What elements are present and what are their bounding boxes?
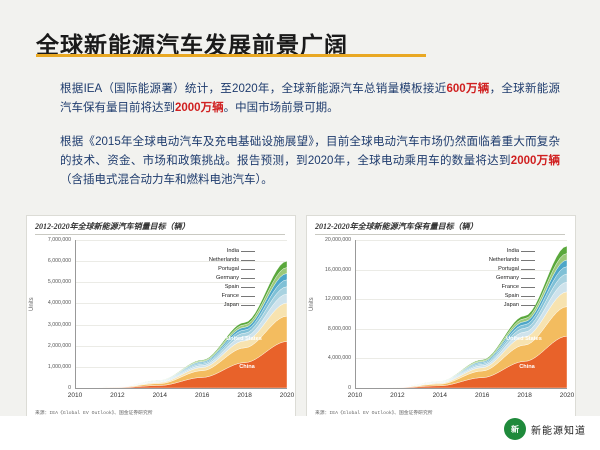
p1-text-c: 。中国市场前景可期。: [224, 102, 339, 114]
series-label: Japan: [167, 302, 239, 308]
y-tick-label: 4,000,000: [309, 355, 351, 361]
chart-title-rule-right: [315, 234, 565, 235]
x-tick-label: 2018: [231, 392, 259, 399]
chart-source-right: 来源：IEA《Global EV Outlook》、国金证券研究所: [315, 409, 433, 416]
y-tick-label: 0: [29, 385, 71, 391]
y-tick-label: 16,000,000: [309, 267, 351, 273]
p2-text-b: （含插电式混合动力车和燃料电池汽车）。: [60, 174, 273, 186]
series-label: Portugal: [167, 266, 239, 272]
p2-highlight-1: 2000万辆: [511, 155, 560, 167]
x-tick-label: 2020: [273, 392, 301, 399]
label-leader-line: [521, 260, 535, 261]
y-tick-label: 4,000,000: [29, 300, 71, 306]
chart-card-stock: 2012-2020年全球新能源汽车保有量目标（辆） Units 04,000,0…: [306, 215, 576, 422]
x-tick-label: 2014: [146, 392, 174, 399]
y-tick-label: 20,000,000: [309, 237, 351, 243]
series-label: Germany: [447, 275, 519, 281]
title-bar: 全球新能源汽车发展前景广阔: [0, 14, 600, 56]
series-label: India: [167, 248, 239, 254]
label-leader-line: [521, 251, 535, 252]
y-tick-label: 6,000,000: [29, 258, 71, 264]
p1-highlight-1: 600万辆: [447, 83, 490, 95]
chart-yaxis-left: [75, 240, 76, 388]
x-tick-label: 2012: [103, 392, 131, 399]
footer-logo: 新 新能源知道: [504, 418, 586, 440]
series-label: Germany: [167, 275, 239, 281]
label-leader-line: [521, 269, 535, 270]
x-tick-label: 2016: [188, 392, 216, 399]
chart-title-stock: 2012-2020年全球新能源汽车保有量目标（辆）: [315, 221, 478, 232]
title-underline: [36, 54, 426, 57]
series-label: United States: [219, 336, 269, 342]
label-leader-line: [521, 287, 535, 288]
series-label: India: [447, 248, 519, 254]
chart-xaxis-left: [75, 388, 287, 389]
series-label: France: [167, 293, 239, 299]
brand-icon: 新: [504, 418, 526, 440]
x-tick-label: 2014: [426, 392, 454, 399]
chart-title-sales: 2012-2020年全球新能源汽车销量目标（辆）: [35, 221, 190, 232]
chart-source-left: 来源：IEA《Global EV Outlook》、国金证券研究所: [35, 409, 153, 416]
paragraph-2: 根据《2015年全球电动汽车及充电基础设施展望》，目前全球电动汽车市场仍然面临着…: [60, 133, 560, 190]
paragraph-1: 根据IEA（国际能源署）统计，至2020年，全球新能源汽车总销量模板接近600万…: [60, 80, 560, 118]
slide-page: 全球新能源汽车发展前景广阔 根据IEA（国际能源署）统计，至2020年，全球新能…: [0, 0, 600, 450]
label-leader-line: [241, 278, 255, 279]
y-tick-label: 3,000,000: [29, 322, 71, 328]
x-tick-label: 2012: [383, 392, 411, 399]
p1-highlight-2: 2000万辆: [175, 102, 224, 114]
y-tick-label: 0: [309, 385, 351, 391]
label-leader-line: [521, 278, 535, 279]
chart-title-rule-left: [35, 234, 285, 235]
x-tick-label: 2010: [341, 392, 369, 399]
series-label: France: [447, 284, 519, 290]
series-label: Netherlands: [447, 257, 519, 263]
x-tick-label: 2020: [553, 392, 581, 399]
x-tick-label: 2018: [511, 392, 539, 399]
x-tick-label: 2010: [61, 392, 89, 399]
label-leader-line: [521, 296, 535, 297]
chart-card-sales: 2012-2020年全球新能源汽车销量目标（辆） Units 01,000,00…: [26, 215, 296, 422]
series-label: China: [222, 364, 272, 370]
series-label: Spain: [167, 284, 239, 290]
series-label: Japan: [447, 302, 519, 308]
series-label: United States: [499, 336, 549, 342]
label-leader-line: [241, 269, 255, 270]
p2-text-a: 根据《2015年全球电动汽车及充电基础设施展望》，目前全球电动汽车市场仍然面临着…: [60, 136, 560, 167]
series-label: Netherlands: [167, 257, 239, 263]
y-tick-label: 12,000,000: [309, 296, 351, 302]
y-tick-label: 2,000,000: [29, 343, 71, 349]
series-label: China: [502, 364, 552, 370]
y-tick-label: 1,000,000: [29, 364, 71, 370]
y-tick-label: 7,000,000: [29, 237, 71, 243]
chart-xaxis-right: [355, 388, 567, 389]
label-leader-line: [241, 305, 255, 306]
series-label: Portugal: [447, 266, 519, 272]
chart-yaxis-right: [355, 240, 356, 388]
p1-text-a: 根据IEA（国际能源署）统计，至2020年，全球新能源汽车总销量模板接近: [60, 83, 447, 95]
label-leader-line: [241, 251, 255, 252]
y-tick-label: 5,000,000: [29, 279, 71, 285]
label-leader-line: [521, 305, 535, 306]
brand-name: 新能源知道: [531, 422, 586, 437]
label-leader-line: [241, 260, 255, 261]
x-tick-label: 2016: [468, 392, 496, 399]
label-leader-line: [241, 287, 255, 288]
series-label: Spain: [447, 293, 519, 299]
label-leader-line: [241, 296, 255, 297]
y-tick-label: 8,000,000: [309, 326, 351, 332]
